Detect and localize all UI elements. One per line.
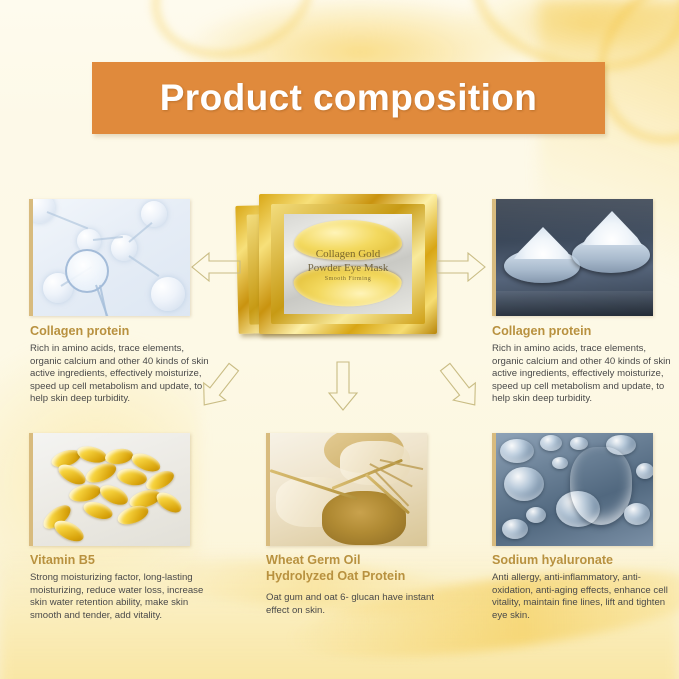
block-collagen-protein-right: Collagen protein Rich in amino acids, tr… <box>492 324 677 406</box>
arrow-to-collagen-left <box>192 250 240 284</box>
block-vitamin-b5: Vitamin B5 Strong moisturizing factor, l… <box>30 553 215 622</box>
collagen-protein-right-body: Rich in amino acids, trace elements, org… <box>492 343 677 406</box>
block-wheat-germ-oil: Wheat Germ Oil Hydrolyzed Oat Protein Oa… <box>266 553 456 617</box>
page-title: Product composition <box>160 77 538 119</box>
product-image: Collagen Gold Powder Eye Mask Smooth Fir… <box>233 188 446 348</box>
packet-window: Collagen Gold Powder Eye Mask Smooth Fir… <box>284 214 412 315</box>
sodium-hyaluronate-body: Anti allergy, anti-inflammatory, anti-ox… <box>492 572 677 622</box>
collagen-protein-right-heading: Collagen protein <box>492 324 677 339</box>
arrow-to-wheat-germ-oil <box>326 362 360 410</box>
product-label-line1: Collagen Gold <box>284 248 412 260</box>
wheat-germ-oil-heading-line2: Hydrolyzed Oat Protein <box>266 569 456 585</box>
title-banner: Product composition <box>92 62 605 134</box>
collagen-powder-dishes-photo <box>492 199 653 316</box>
wheat-germ-oil-heading-line1: Wheat Germ Oil <box>266 553 456 569</box>
arrow-to-sodium-hyaluronate <box>432 357 488 416</box>
infographic-page: Product composition Collagen Gold Powder… <box>0 0 679 679</box>
wheat-germ-oil-body: Oat gum and oat 6- glucan have instant e… <box>266 592 456 617</box>
product-packet-front: Collagen Gold Powder Eye Mask Smooth Fir… <box>259 194 437 334</box>
large-water-droplet <box>570 447 632 525</box>
product-label-line2: Powder Eye Mask <box>284 262 412 274</box>
collagen-protein-left-heading: Collagen protein <box>30 324 215 339</box>
product-label-line3: Smooth Firming <box>284 276 412 282</box>
block-sodium-hyaluronate: Sodium hyaluronate Anti allergy, anti-in… <box>492 553 677 622</box>
collagen-protein-left-body: Rich in amino acids, trace elements, org… <box>30 343 215 406</box>
vitamin-capsules-photo <box>29 433 190 546</box>
wheat-and-oat-photo <box>266 433 427 546</box>
collagen-molecule-photo <box>29 199 190 316</box>
block-collagen-protein-left: Collagen protein Rich in amino acids, tr… <box>30 324 215 406</box>
vitamin-b5-heading: Vitamin B5 <box>30 553 215 568</box>
sodium-hyaluronate-heading: Sodium hyaluronate <box>492 553 677 568</box>
magnified-molecule-ring <box>65 249 109 293</box>
vitamin-b5-body: Strong moisturizing factor, long-lasting… <box>30 572 215 622</box>
arrow-to-collagen-right <box>437 250 485 284</box>
water-droplets-photo <box>492 433 653 546</box>
